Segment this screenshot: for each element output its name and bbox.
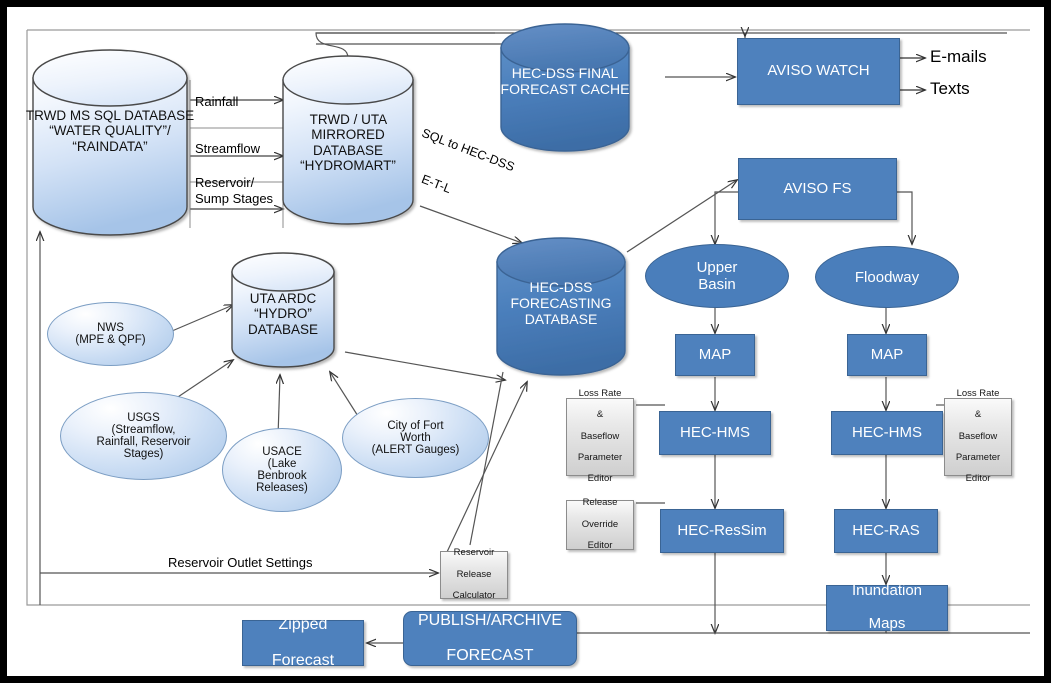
- outer-frame: [0, 0, 1051, 683]
- diagram-canvas: TRWD MS SQL DATABASE “WATER QUALITY”/ “R…: [0, 0, 1051, 683]
